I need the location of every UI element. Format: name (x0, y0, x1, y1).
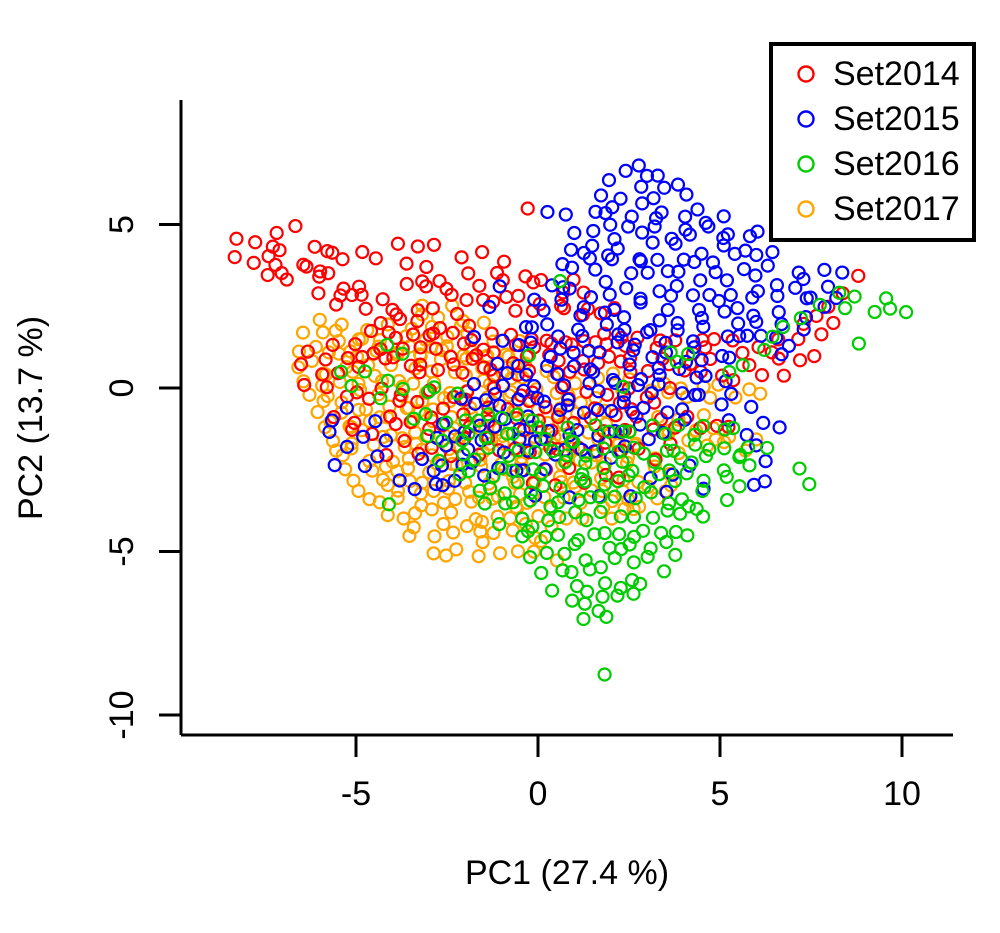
x-tick-label: 0 (529, 775, 548, 813)
pca-scatter-plot: -50510 -10-505 PC1 (27.4 %) PC2 (13.7 %)… (0, 0, 1000, 933)
legend-label-set2016: Set2016 (833, 145, 960, 183)
x-tick-label: -5 (341, 775, 371, 813)
y-tick-label: -10 (103, 690, 141, 739)
x-axis-title: PC1 (27.4 %) (465, 854, 669, 892)
y-tick-label: 5 (103, 215, 141, 234)
legend-label-set2017: Set2017 (833, 190, 960, 228)
y-tick-label: -5 (103, 536, 141, 566)
legend-label-set2014: Set2014 (833, 55, 960, 93)
y-axis-title: PC2 (13.7 %) (12, 316, 50, 520)
x-tick-label: 5 (711, 775, 730, 813)
x-tick-label: 10 (883, 775, 921, 813)
y-tick-label: 0 (103, 379, 141, 398)
chart-canvas: -50510 -10-505 PC1 (27.4 %) PC2 (13.7 %)… (0, 0, 1000, 933)
legend: Set2014Set2015Set2016Set2017 (771, 44, 974, 240)
legend-label-set2015: Set2015 (833, 100, 960, 138)
